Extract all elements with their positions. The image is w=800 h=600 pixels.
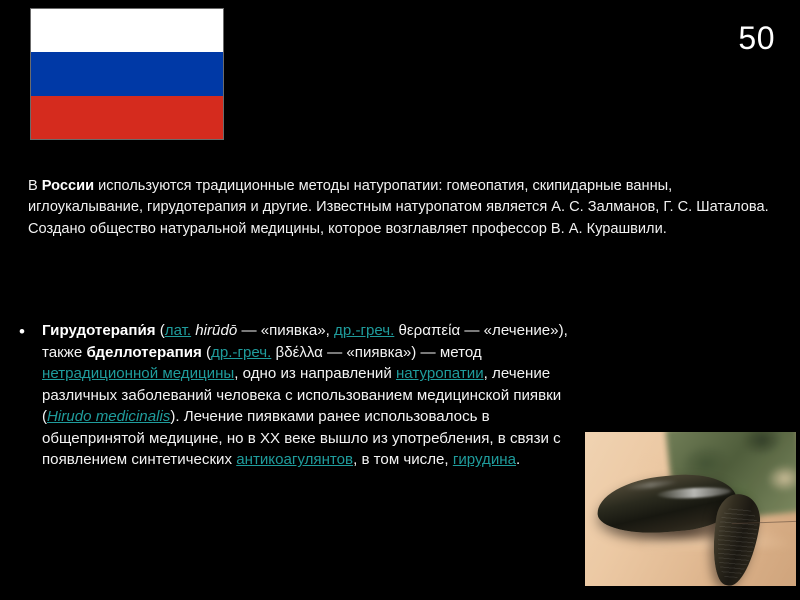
intro-paragraph: В России используются традиционные метод… xyxy=(28,176,784,240)
russia-flag-image xyxy=(30,8,224,140)
bullet-bold-9: бделлотерапия xyxy=(86,344,201,361)
bullet-link-17[interactable]: Hirudo medicinalis xyxy=(47,408,170,425)
bullet-link-19[interactable]: антикоагулянтов xyxy=(236,451,353,468)
bullet-text-14: , одно из направлений xyxy=(234,365,396,382)
bullet-text-10: ( xyxy=(202,344,211,361)
bullet-bold-0: Гирудотерапи́я xyxy=(42,322,156,339)
bullet-link-11[interactable]: др.-греч. xyxy=(211,344,271,361)
intro-text-0: В xyxy=(28,178,42,194)
bullet-text-12: βδέλλα — «пиявка») — метод xyxy=(271,344,481,361)
intro-bold-1: России xyxy=(42,178,94,194)
bullet-text-22: . xyxy=(516,451,520,468)
bullet-link-21[interactable]: гирудина xyxy=(453,451,516,468)
bullet-list-item: • Гирудотерапи́я (лат. hirūdō — «пиявка»… xyxy=(16,320,576,471)
bullet-link-6[interactable]: др.-греч. xyxy=(334,322,394,339)
bullet-italic-4: hirūdō xyxy=(195,322,237,339)
slide-number: 50 xyxy=(738,22,775,54)
bullet-link-2[interactable]: лат. xyxy=(165,322,191,339)
bullet-text-7: θεραπεία — «лечение»), xyxy=(394,322,567,339)
flag-band-white xyxy=(31,9,223,52)
bullet-text-20: , в том числе, xyxy=(353,451,453,468)
bullet-marker-icon: • xyxy=(16,320,42,344)
bullet-link-13[interactable]: нетрадиционной медицины xyxy=(42,365,234,382)
bullet-text-8: также xyxy=(42,344,86,361)
bullet-text-5: — «пиявка», xyxy=(237,322,334,339)
bullet-item-text: Гирудотерапи́я (лат. hirūdō — «пиявка», … xyxy=(42,320,576,471)
bullet-text-1: ( xyxy=(156,322,165,339)
bullet-link-15[interactable]: натуропатии xyxy=(396,365,484,382)
slide-root: 50 В России используются традиционные ме… xyxy=(0,0,800,600)
flag-band-red xyxy=(31,96,223,139)
flag-band-blue xyxy=(31,52,223,95)
leech-photo xyxy=(585,432,796,586)
intro-text-2: используются традиционные методы натуроп… xyxy=(28,178,769,237)
